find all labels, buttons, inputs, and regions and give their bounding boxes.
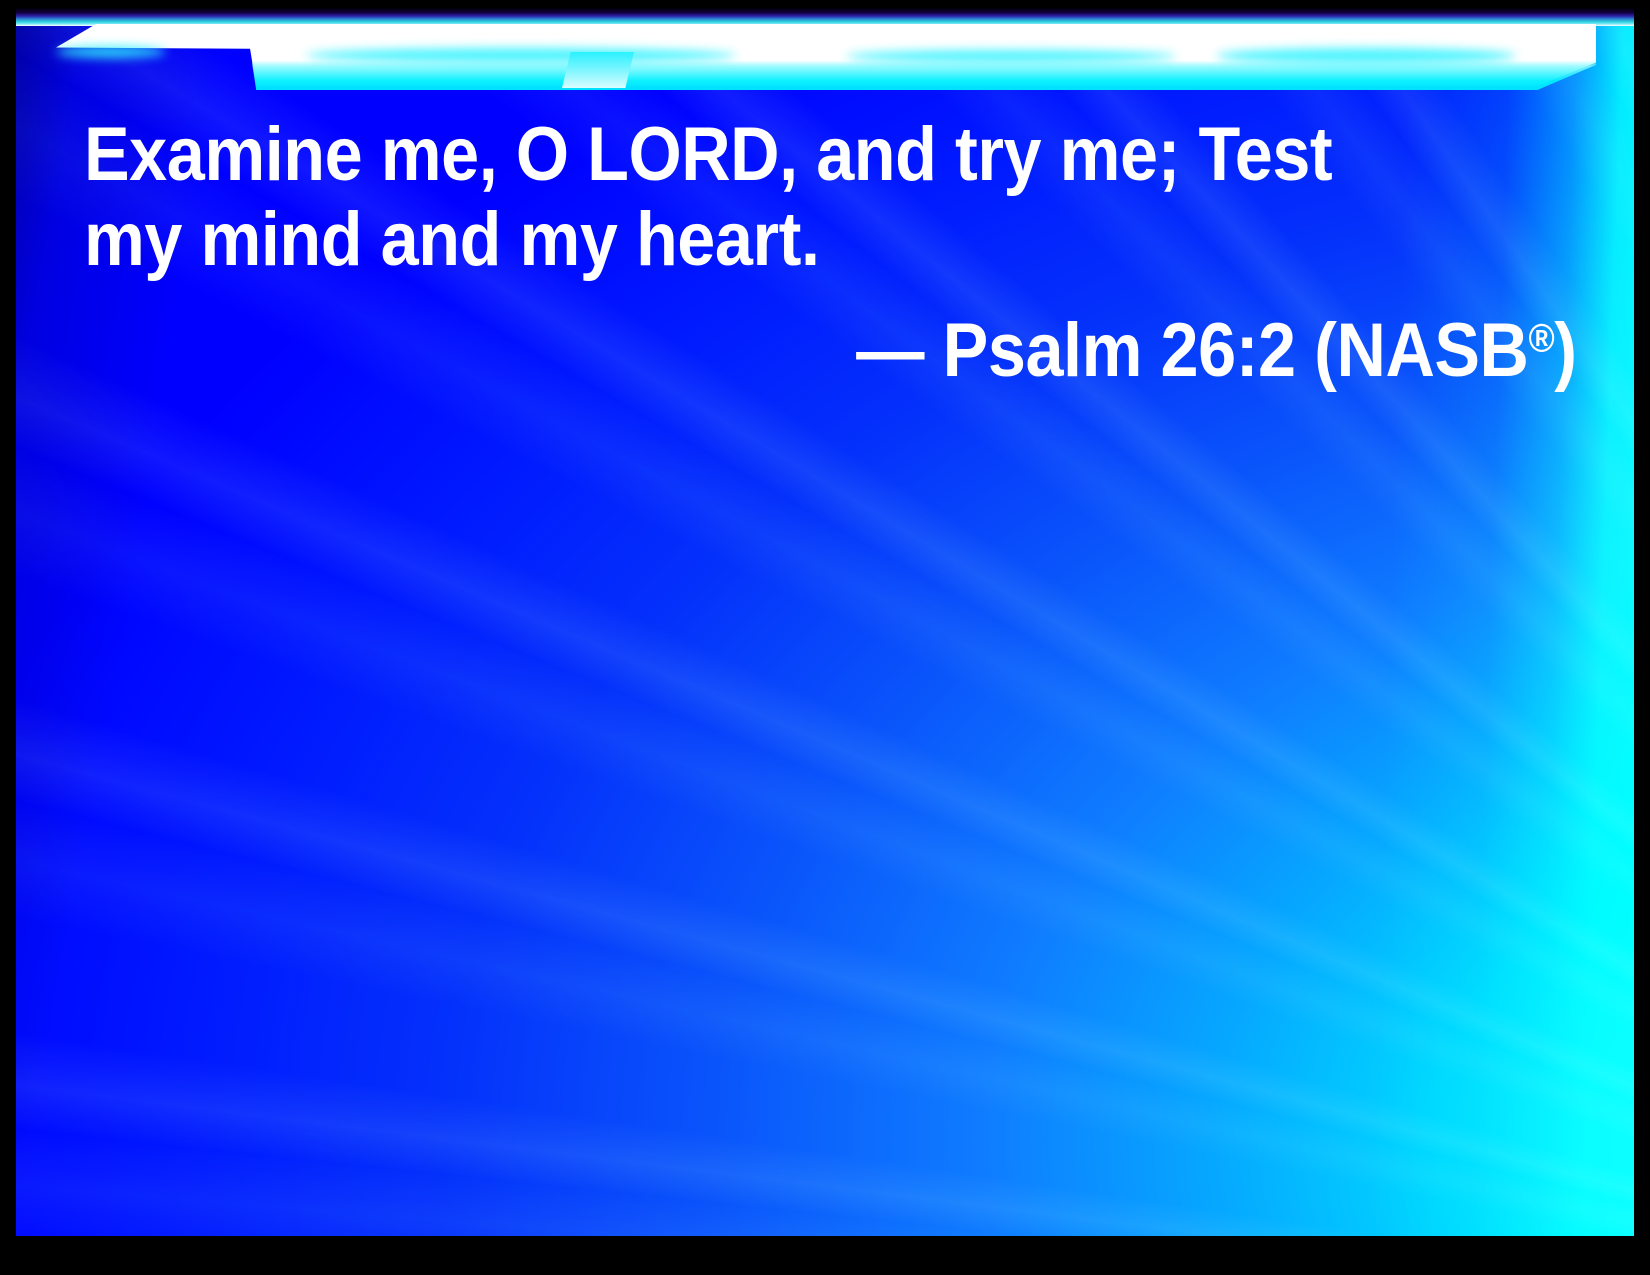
verse-body-text: Examine me, O LORD, and try me; Test my … [84,112,1432,282]
verse-attribution: — Psalm 26:2 (NASB®) [234,308,1582,393]
slide-artwork-area: Examine me, O LORD, and try me; Test my … [16,8,1634,1236]
attribution-close-paren: ) [1554,308,1576,393]
registered-trademark-icon: ® [1529,317,1555,361]
attribution-reference: — Psalm 26:2 (NASB [856,308,1528,393]
verse-text-block: Examine me, O LORD, and try me; Test my … [16,8,1634,1236]
slide-canvas: Examine me, O LORD, and try me; Test my … [0,0,1650,1275]
